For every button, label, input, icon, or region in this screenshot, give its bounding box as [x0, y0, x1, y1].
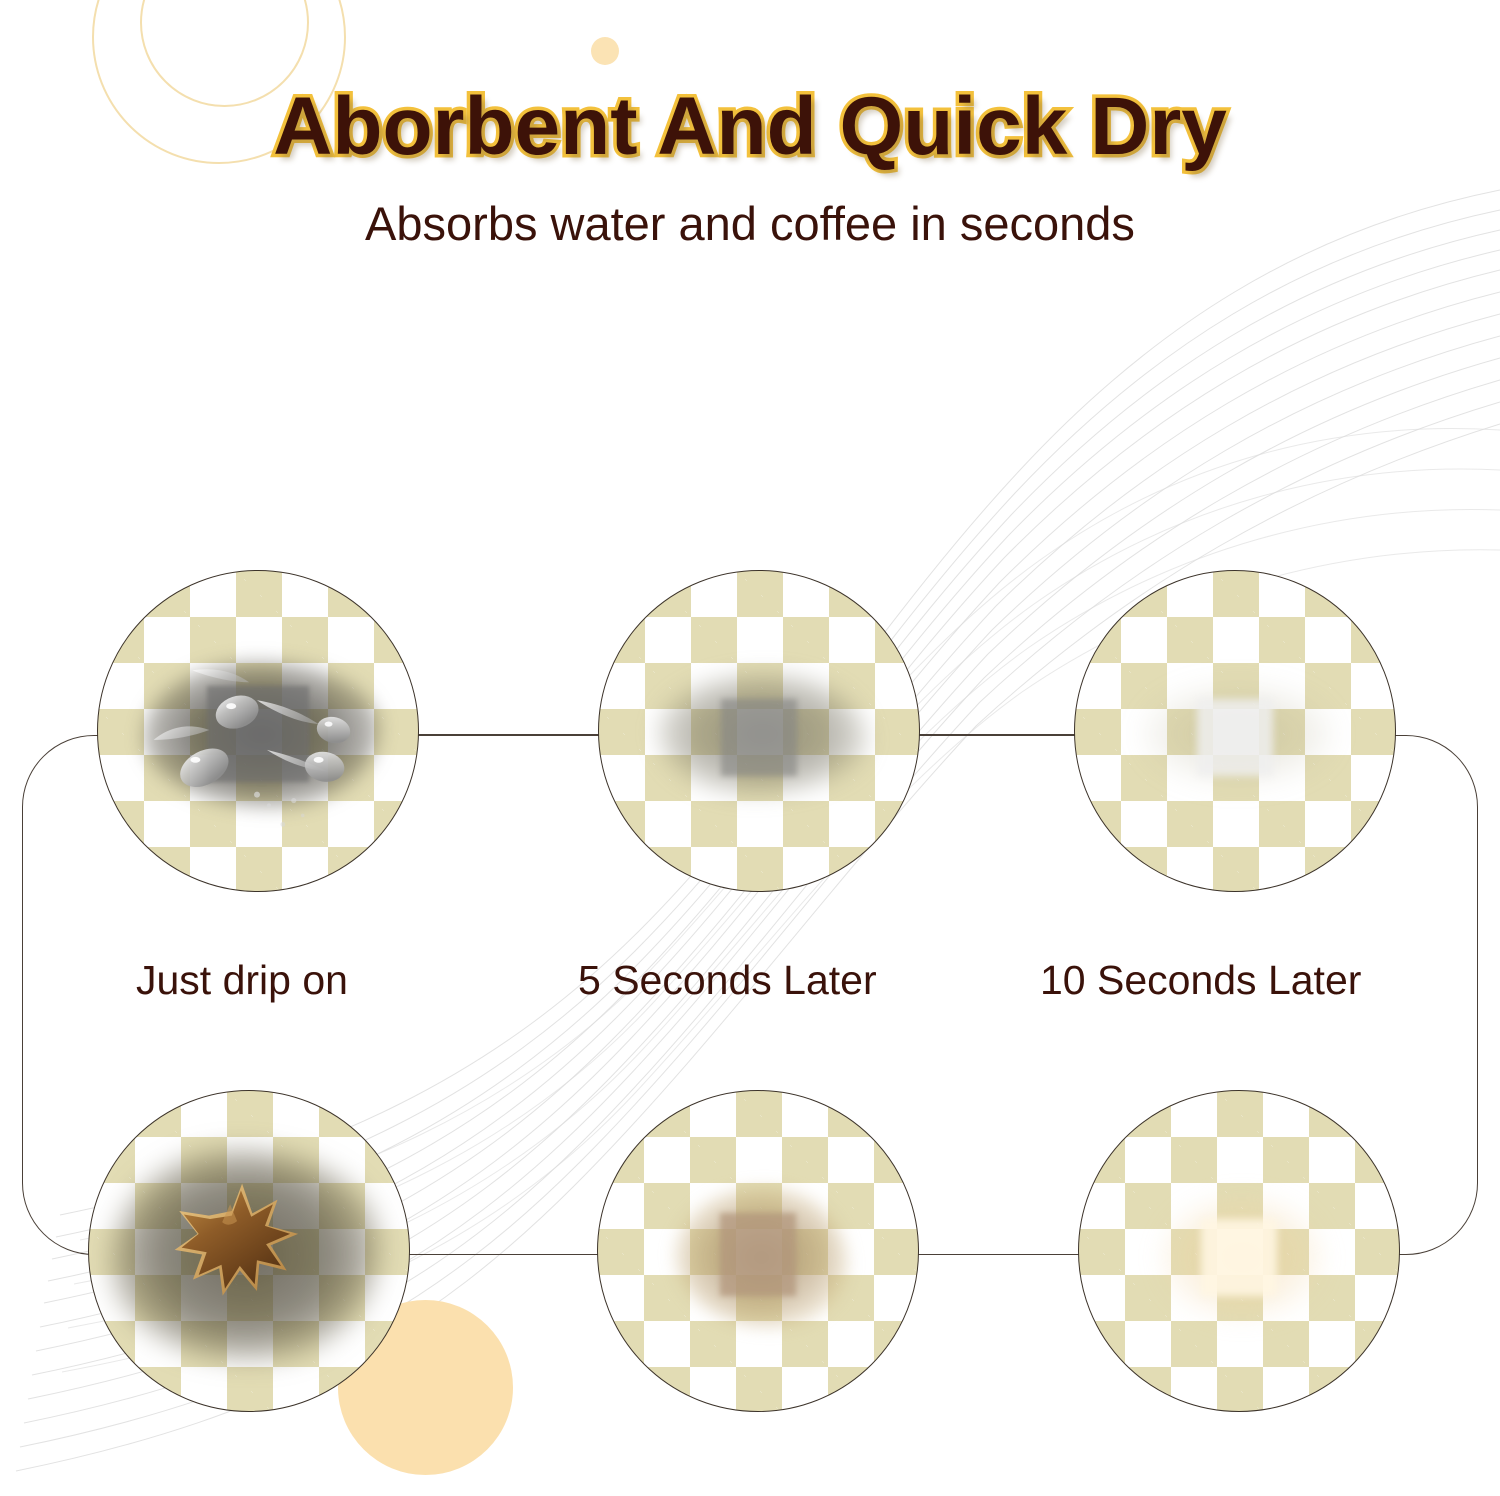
page-title: Aborbent And Quick Dry [0, 0, 1500, 168]
coffee-splash-icon [89, 1091, 409, 1411]
connector-line-row1-a [395, 734, 620, 735]
step-label-5-seconds-later: 5 Seconds Later [578, 960, 877, 1001]
coffee-stain-faded [598, 1091, 918, 1411]
demo-circle-coffee-just-dripped [88, 1090, 410, 1412]
page-subtitle: Absorbs water and coffee in seconds [0, 168, 1500, 250]
step-label-10-seconds-later: 10 Seconds Later [1040, 960, 1361, 1001]
coffee-stain-dry [1079, 1091, 1399, 1411]
connector-line-row2-b [895, 1254, 1090, 1255]
header: Aborbent And Quick Dry Absorbs water and… [0, 0, 1500, 250]
demo-circle-coffee-10-seconds [1078, 1090, 1400, 1412]
demo-circle-water-10-seconds [1074, 570, 1396, 892]
connector-line-row2-a [400, 1254, 605, 1255]
water-stain-faded [599, 571, 919, 891]
water-stain-dry [1075, 571, 1395, 891]
demo-circle-water-5-seconds [598, 570, 920, 892]
demo-circle-coffee-5-seconds [597, 1090, 919, 1412]
step-label-just-drip-on: Just drip on [136, 960, 348, 1001]
water-droplets-icon [98, 571, 418, 891]
demo-circle-water-just-dripped [97, 570, 419, 892]
